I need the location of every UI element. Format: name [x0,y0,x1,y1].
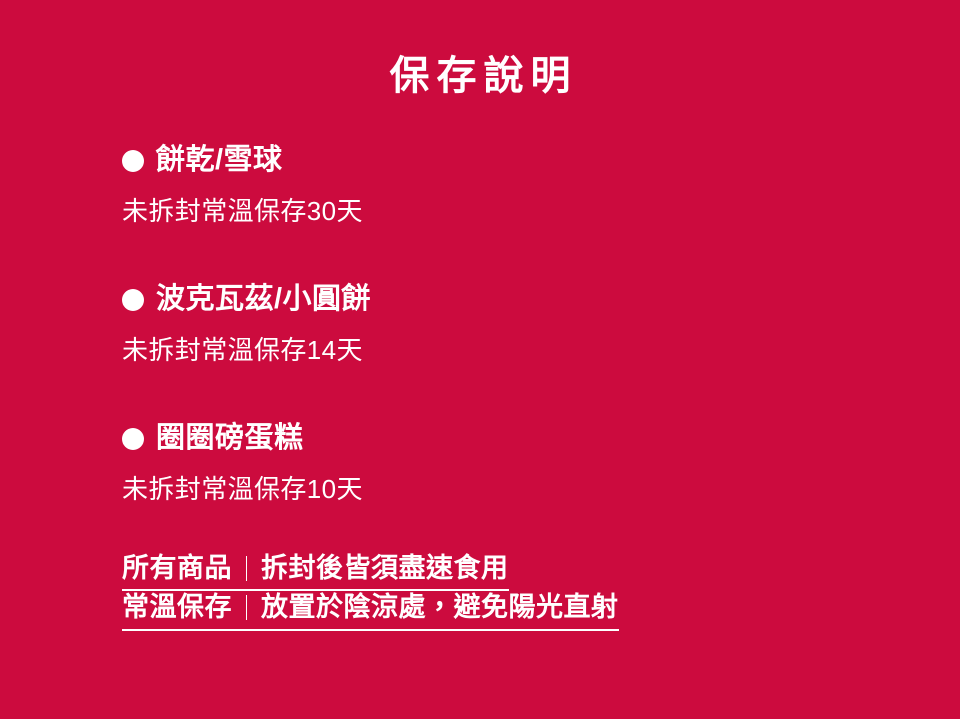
note-row: 常溫保存放置於陰涼處，避免陽光直射 [122,591,922,630]
storage-instructions-poster: 保存說明 餅乾/雪球 未拆封常溫保存30天 波克瓦茲/小圓餅 未拆封常溫保存14… [0,0,960,719]
note-line: 常溫保存放置於陰涼處，避免陽光直射 [122,591,619,630]
note-line: 所有商品拆封後皆須盡速食用 [122,552,509,591]
storage-item-name: 圈圈磅蛋糕 [156,420,304,456]
storage-item-list: 餅乾/雪球 未拆封常溫保存30天 波克瓦茲/小圓餅 未拆封常溫保存14天 圈圈磅… [122,142,882,507]
storage-item-detail: 未拆封常溫保存30天 [122,195,882,229]
note-text: 放置於陰涼處，避免陽光直射 [261,592,619,622]
note-separator-icon [246,595,247,620]
note-label: 常溫保存 [122,592,232,622]
footer-notes: 所有商品拆封後皆須盡速食用 常溫保存放置於陰涼處，避免陽光直射 [122,552,922,631]
storage-item-name: 波克瓦茲/小圓餅 [156,281,371,317]
note-text: 拆封後皆須盡速食用 [261,553,509,583]
list-item: 餅乾/雪球 未拆封常溫保存30天 [122,142,882,229]
storage-item-heading: 圈圈磅蛋糕 [122,420,882,456]
note-row: 所有商品拆封後皆須盡速食用 [122,552,922,591]
list-item: 圈圈磅蛋糕 未拆封常溫保存10天 [122,420,882,507]
note-label: 所有商品 [122,553,232,583]
bullet-dot-icon [122,150,144,172]
storage-item-heading: 波克瓦茲/小圓餅 [122,281,882,317]
storage-item-detail: 未拆封常溫保存10天 [122,473,882,507]
note-separator-icon [246,556,247,581]
bullet-dot-icon [122,289,144,311]
list-item: 波克瓦茲/小圓餅 未拆封常溫保存14天 [122,281,882,368]
bullet-dot-icon [122,428,144,450]
storage-item-heading: 餅乾/雪球 [122,142,882,178]
storage-item-name: 餅乾/雪球 [156,142,283,178]
storage-item-detail: 未拆封常溫保存14天 [122,334,882,368]
page-title: 保存說明 [0,52,960,100]
